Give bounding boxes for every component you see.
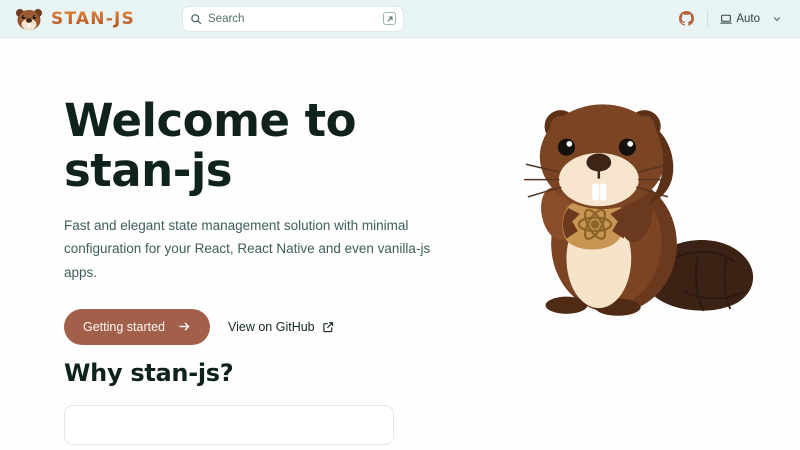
theme-selector[interactable]: Auto [716,10,786,28]
beaver-mascot-illustration [510,92,760,330]
hero-illustration [510,92,760,330]
feature-card [64,405,394,445]
arrow-right-icon [178,320,191,333]
search-input[interactable]: Search [182,6,404,32]
page-title: Welcome to stan-js [64,96,464,197]
view-on-github-label: View on GitHub [228,320,315,334]
hero-subtitle: Fast and elegant state management soluti… [64,214,456,285]
brand-logo[interactable]: STAN-JS [14,7,164,31]
why-heading: Why stan-js? [64,359,736,387]
kbd-shortcut-icon [383,12,396,25]
header-divider [707,10,708,28]
why-section: Why stan-js? [0,359,800,445]
getting-started-button[interactable]: Getting started [64,309,210,345]
hero-section: Welcome to stan-js Fast and elegant stat… [0,38,800,345]
header-actions: Auto [673,6,786,32]
search-icon [190,13,202,25]
brand-name: STAN-JS [51,9,135,29]
hero-text-column: Welcome to stan-js Fast and elegant stat… [64,96,464,345]
external-link-icon [322,321,334,333]
top-header: STAN-JS Search Auto [0,0,800,38]
github-link[interactable] [673,6,699,32]
view-on-github-link[interactable]: View on GitHub [228,320,334,334]
getting-started-label: Getting started [83,320,165,334]
monitor-icon [720,13,732,25]
search-placeholder: Search [208,13,377,25]
beaver-logo-icon [14,7,44,31]
theme-label: Auto [736,13,760,25]
main-content: Welcome to stan-js Fast and elegant stat… [0,38,800,450]
chevron-down-icon [772,14,782,24]
github-icon [679,11,694,26]
hero-cta-row: Getting started View on GitHub [64,309,464,345]
